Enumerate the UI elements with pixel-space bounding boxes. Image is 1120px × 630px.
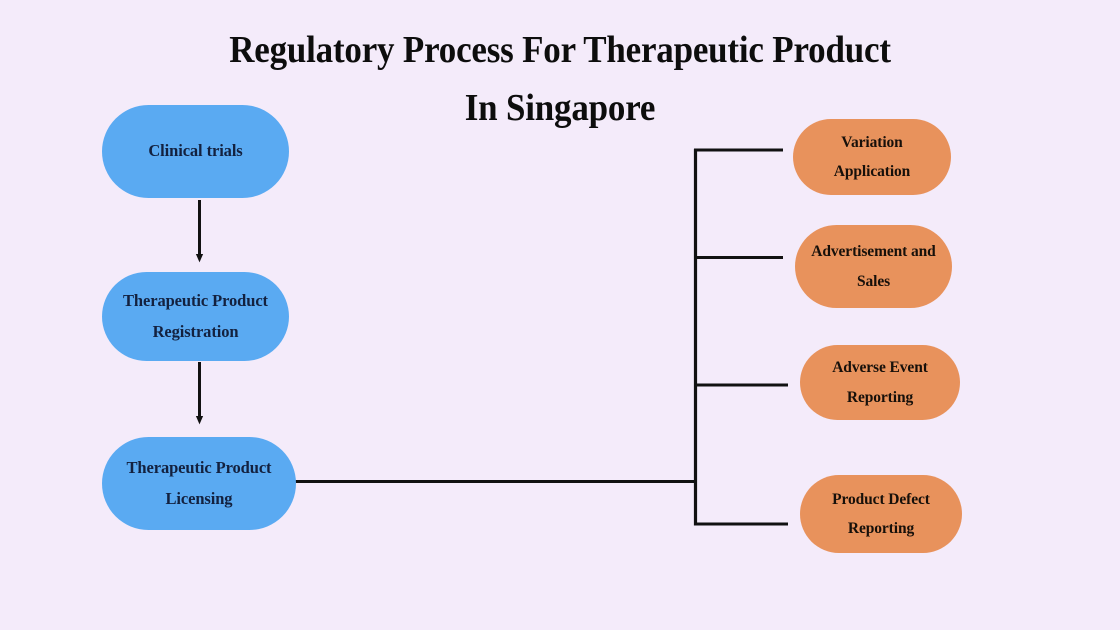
node-variation-application[interactable]: Variation Application — [793, 119, 951, 195]
node-advertisement-and-sales-label: Advertisement and Sales — [795, 237, 952, 296]
node-therapeutic-product-registration-label: Therapeutic Product Registration — [102, 286, 289, 347]
node-product-defect-reporting-label: Product Defect Reporting — [800, 485, 962, 544]
node-adverse-event-reporting-label: Adverse Event Reporting — [800, 353, 960, 412]
node-clinical-trials-label: Clinical trials — [102, 136, 289, 167]
node-therapeutic-product-registration[interactable]: Therapeutic Product Registration — [102, 272, 289, 361]
node-therapeutic-product-licensing[interactable]: Therapeutic Product Licensing — [102, 437, 296, 530]
node-adverse-event-reporting[interactable]: Adverse Event Reporting — [800, 345, 960, 420]
node-product-defect-reporting[interactable]: Product Defect Reporting — [800, 475, 962, 553]
node-clinical-trials[interactable]: Clinical trials — [102, 105, 289, 198]
node-variation-application-label: Variation Application — [793, 128, 951, 187]
node-therapeutic-product-licensing-label: Therapeutic Product Licensing — [102, 453, 296, 514]
node-advertisement-and-sales[interactable]: Advertisement and Sales — [795, 225, 952, 308]
flowchart-canvas: Regulatory Process For Therapeutic Produ… — [0, 0, 1120, 630]
